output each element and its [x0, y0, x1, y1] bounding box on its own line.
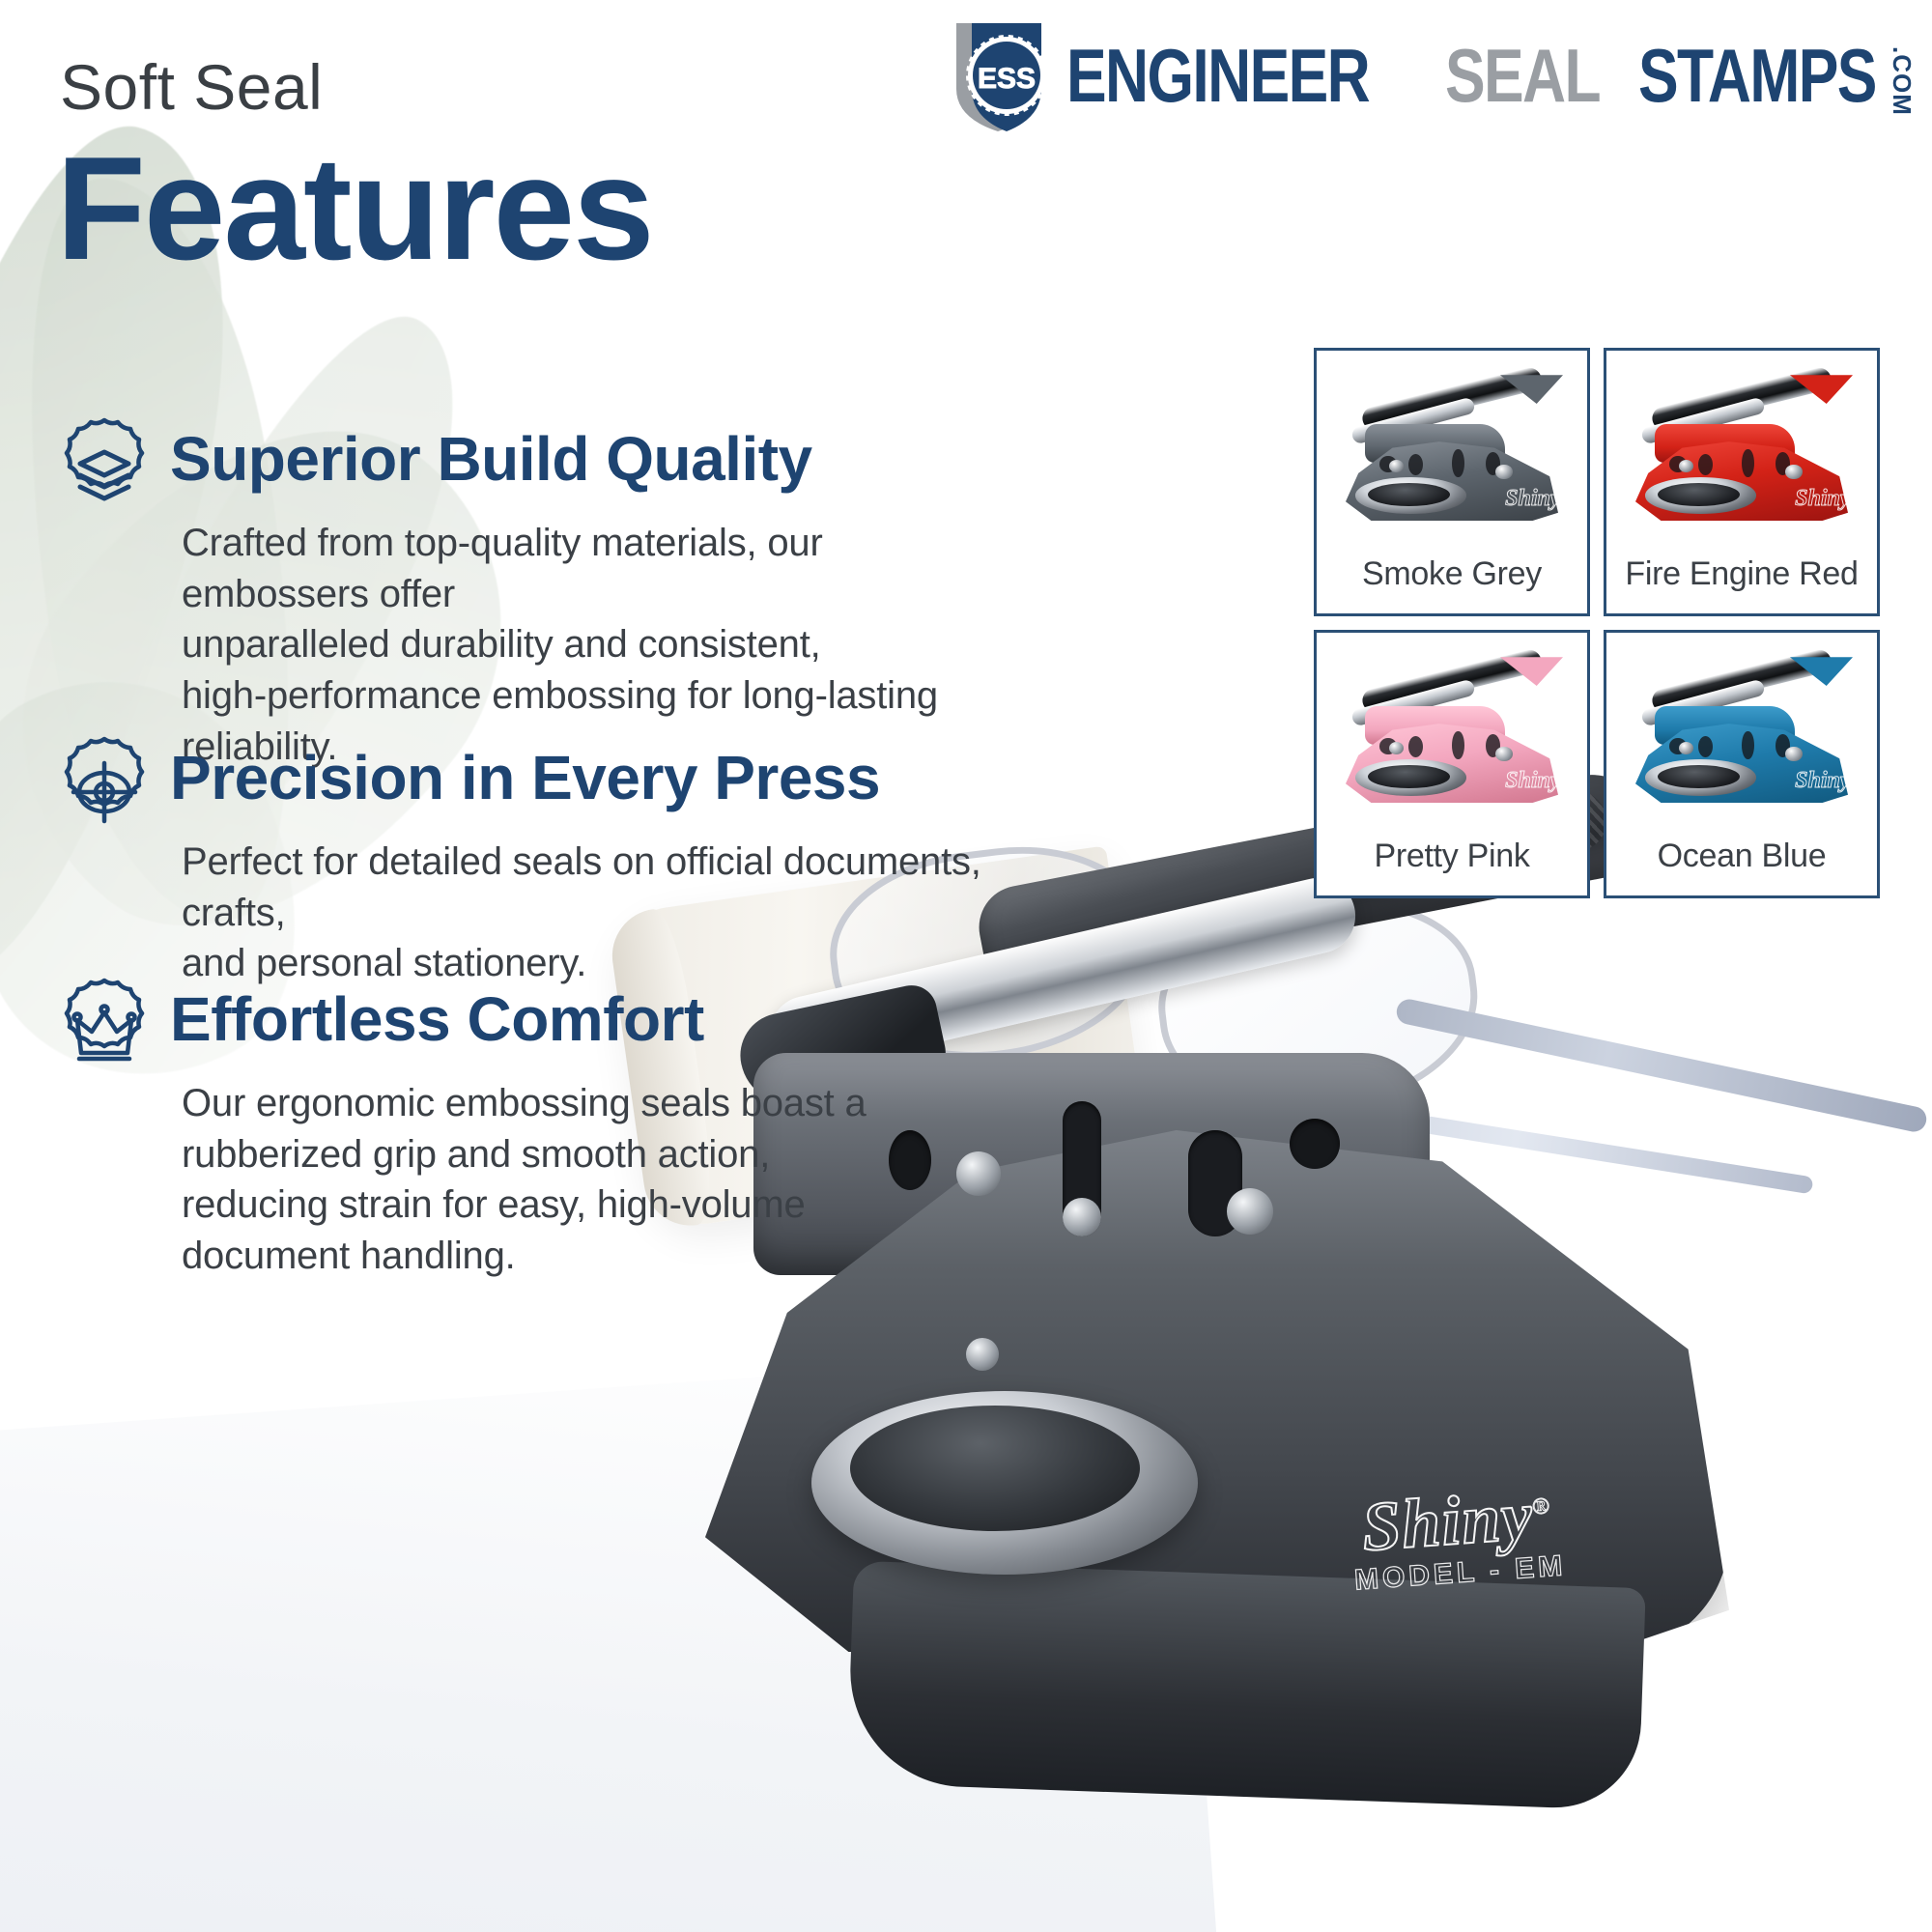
color-swatch-card[interactable]: Shiny Ocean Blue	[1604, 630, 1880, 898]
color-swatch-label: Ocean Blue	[1658, 838, 1827, 875]
feature-item: Effortless Comfort Our ergonomic embossi…	[46, 976, 1012, 1282]
mini-rivet	[1679, 460, 1693, 472]
mini-rivet	[1785, 465, 1803, 479]
embosser-thumbnail: Shiny	[1621, 366, 1862, 546]
ess-gear-shield-icon: ESS	[933, 17, 1061, 133]
feature-heading: Precision in Every Press	[170, 746, 1012, 811]
mini-brand-text: Shiny	[1505, 486, 1560, 512]
logo-word-engineer: ENGINEER	[1066, 32, 1369, 120]
feature-body: Our ergonomic embossing seals boast a ru…	[182, 1078, 1012, 1282]
mini-embosser-1: Shiny	[1621, 366, 1862, 546]
mini-embosser-0: Shiny	[1331, 366, 1573, 546]
mini-embosser-2: Shiny	[1331, 648, 1573, 828]
layers-stack-seal-icon	[46, 415, 162, 531]
logo-word-stamps: STAMPS	[1638, 32, 1876, 120]
feature-item: Superior Build Quality Crafted from top-…	[46, 415, 1012, 773]
mini-rivet	[1495, 465, 1513, 479]
color-options-grid: Shiny Smoke Grey	[1314, 348, 1880, 898]
mini-die-insert	[1368, 765, 1450, 788]
color-swatch-label: Pretty Pink	[1374, 838, 1529, 875]
mini-die-insert	[1658, 483, 1740, 506]
feature-heading: Effortless Comfort	[170, 987, 1012, 1053]
mini-embosser-3: Shiny	[1621, 648, 1862, 828]
crown-seal-icon	[46, 976, 162, 1092]
mini-rivet	[1495, 747, 1513, 761]
color-swatch-card[interactable]: Shiny Pretty Pink	[1314, 630, 1590, 898]
feature-text-block: Superior Build Quality Crafted from top-…	[170, 427, 1012, 773]
feature-heading: Superior Build Quality	[170, 427, 1012, 493]
mini-die-insert	[1658, 765, 1740, 788]
mini-brand-text: Shiny	[1795, 768, 1850, 794]
mini-die-insert	[1368, 483, 1450, 506]
page-title: Features	[56, 135, 653, 282]
page-eyebrow: Soft Seal	[60, 50, 323, 124]
mini-hole	[1452, 731, 1464, 760]
embosser-thumbnail: Shiny	[1331, 366, 1573, 546]
feature-text-block: Effortless Comfort Our ergonomic embossi…	[170, 987, 1012, 1282]
mini-brand-text: Shiny	[1795, 486, 1850, 512]
color-swatch-card[interactable]: Shiny Fire Engine Red	[1604, 348, 1880, 616]
logo-word-dotcom: .COM	[1887, 46, 1917, 116]
color-swatch-card[interactable]: Shiny Smoke Grey	[1314, 348, 1590, 616]
color-swatch-label: Smoke Grey	[1362, 555, 1542, 593]
logo-wordmark: ENGINEER SEAL STAMPS .COM	[1066, 32, 1917, 120]
mini-hole	[1452, 449, 1464, 478]
mini-brand-text: Shiny	[1505, 768, 1560, 794]
embosser-thumbnail: Shiny	[1331, 648, 1573, 828]
logo-word-seal: SEAL	[1445, 32, 1600, 120]
feature-text-block: Precision in Every Press Perfect for det…	[170, 746, 1012, 989]
embosser-thumbnail: Shiny	[1621, 648, 1862, 828]
crosshair-target-seal-icon	[46, 734, 162, 850]
mini-rivet	[1389, 460, 1404, 472]
site-logo[interactable]: ESS ENGINEER SEAL STAMPS .COM	[933, 17, 1917, 133]
feature-item: Precision in Every Press Perfect for det…	[46, 734, 1012, 989]
color-swatch-label: Fire Engine Red	[1625, 555, 1858, 593]
svg-text:ESS: ESS	[978, 63, 1036, 95]
feature-body: Perfect for detailed seals on official d…	[182, 837, 1012, 989]
mini-hole	[1742, 731, 1754, 760]
mini-hole	[1742, 449, 1754, 478]
mini-rivet	[1679, 742, 1693, 754]
mini-rivet	[1389, 742, 1404, 754]
mini-rivet	[1785, 747, 1803, 761]
